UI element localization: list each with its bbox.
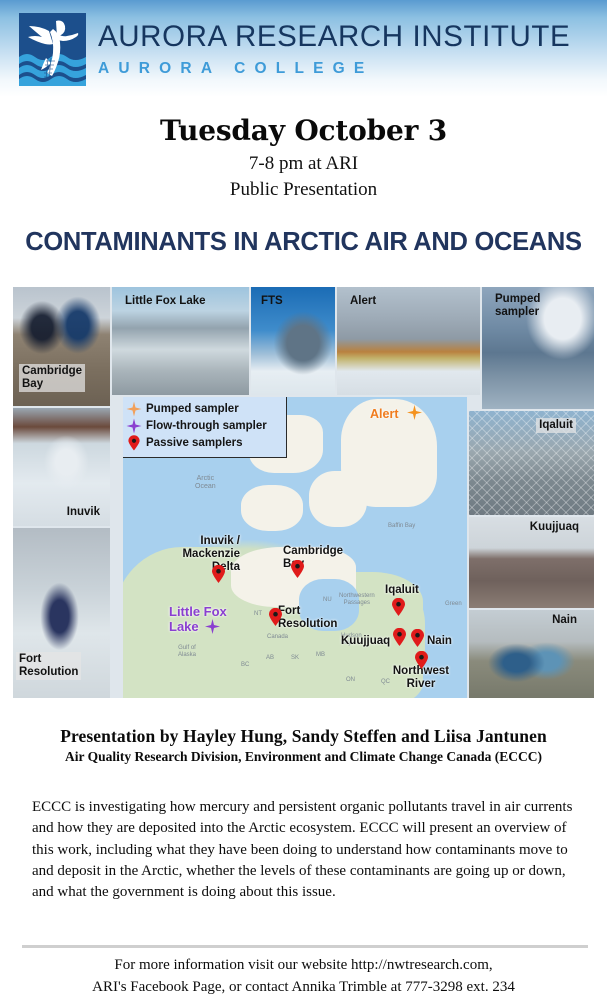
map-geo-label-northwestern-passages: Northwestern Passages	[339, 593, 375, 607]
map-site-label-alert: Alert	[370, 407, 398, 421]
poster-header: AURORA RESEARCH INSTITUTE AURORA COLLEGE	[0, 0, 607, 97]
photo-caption: Kuujjuaq	[527, 520, 582, 535]
presenter-names: Presentation by Hayley Hung, Sandy Steff…	[0, 726, 607, 747]
map-land-lower48	[123, 637, 333, 698]
presenter-affiliation: Air Quality Research Division, Environme…	[0, 749, 607, 765]
flow-through-sampler-cross-icon	[126, 418, 142, 434]
aurora-bird-waves-logo-icon	[19, 13, 86, 86]
photo-caption: Alert	[347, 294, 379, 309]
photo-caption: Inuvik	[64, 505, 103, 520]
legend-row-flow-through-sampler: Flow-through sampler	[126, 417, 280, 434]
map-geo-label-ab: AB	[266, 655, 274, 662]
body-paragraph: ECCC is investigating how mercury and pe…	[32, 797, 577, 903]
map-marker-inuvik-passive-pin-icon[interactable]	[212, 565, 225, 583]
map-geo-label-greenland-abbrev: Green	[445, 601, 462, 608]
photo-inuvik: Inuvik	[13, 408, 110, 526]
event-block: Tuesday October 3 7-8 pm at ARI Public P…	[0, 115, 607, 202]
map-geo-label-nt: NT	[254, 611, 262, 618]
map-marker-fort-resolution-passive-pin-icon[interactable]	[269, 608, 282, 626]
map-marker-cambridge-bay-passive-pin-icon[interactable]	[291, 560, 304, 578]
legend-row-passive-samplers: Passive samplers	[126, 434, 280, 451]
map-marker-alert-pumped-cross-icon[interactable]	[407, 405, 422, 420]
photo-pumped-sampler: Pumped sampler	[482, 287, 594, 409]
photo-cambridge-bay: Cambridge Bay	[13, 287, 110, 406]
footer-divider	[22, 945, 588, 948]
photo-caption: Nain	[549, 613, 580, 628]
org-name: AURORA RESEARCH INSTITUTE	[98, 22, 570, 52]
map-geo-label-mb: MB	[316, 652, 325, 659]
map-marker-kuujjuaq-passive-pin-icon[interactable]	[393, 628, 406, 646]
legend-label: Flow-through sampler	[146, 420, 267, 432]
photo-collage: Cambridge Bay Inuvik Fort Resolution Lit…	[13, 287, 594, 698]
map-geo-label-sk: SK	[291, 655, 299, 662]
legend-row-pumped-sampler: Pumped sampler	[126, 400, 280, 417]
event-kind: Public Presentation	[0, 177, 607, 203]
map-marker-nain-passive-pin-icon[interactable]	[411, 629, 424, 647]
photo-caption: Little Fox Lake	[122, 294, 209, 309]
map-site-label-inuvik-mackenzie-delta: Inuvik / Mackenzie Delta	[177, 535, 240, 574]
event-date: Tuesday October 3	[0, 115, 607, 147]
map-legend: Pumped sampler Flow-through sampler	[123, 397, 287, 458]
map-geo-label-arctic-ocean: Arctic Ocean	[195, 475, 216, 492]
footer-block: For more information visit our website h…	[0, 955, 607, 999]
photo-caption: Cambridge Bay	[19, 364, 85, 392]
map-site-label-iqaluit: Iqaluit	[385, 584, 419, 597]
map-geo-label-on: ON	[346, 677, 355, 684]
passive-sampler-pin-icon	[126, 435, 142, 451]
map-land-victoria-island	[241, 485, 303, 531]
photo-caption: FTS	[258, 294, 286, 309]
org-sub: AURORA COLLEGE	[98, 61, 570, 77]
photo-alert: Alert	[337, 287, 480, 395]
photo-fort-resolution: Fort Resolution	[13, 528, 110, 698]
photo-caption: Pumped sampler	[492, 292, 543, 320]
map-site-label-fort-resolution: Fort Resolution	[278, 605, 337, 631]
photo-nain: Nain	[469, 610, 594, 698]
photo-fts: FTS	[251, 287, 335, 395]
map-geo-label-bc: BC	[241, 662, 249, 669]
arctic-sampling-sites-map[interactable]: Arctic Ocean Baffin Bay Northwestern Pas…	[123, 397, 467, 698]
map-geo-label-nu: NU	[323, 597, 332, 604]
map-marker-little-fox-lake-flow-through-cross-icon[interactable]	[205, 619, 220, 634]
photo-caption: Fort Resolution	[16, 652, 81, 680]
pumped-sampler-cross-icon	[126, 401, 142, 417]
legend-label: Pumped sampler	[146, 403, 239, 415]
map-geo-label-canada: Canada	[267, 634, 288, 641]
photo-little-fox-lake: Little Fox Lake	[112, 287, 249, 395]
map-marker-northwest-river-passive-pin-icon[interactable]	[415, 651, 428, 669]
footer-line-website: For more information visit our website h…	[0, 955, 607, 977]
page-title: CONTAMINANTS IN ARCTIC AIR AND OCEANS	[0, 228, 607, 257]
presenter-block: Presentation by Hayley Hung, Sandy Steff…	[0, 726, 607, 765]
map-site-label-kuujjuaq: Kuujjuaq	[341, 635, 390, 648]
legend-label: Passive samplers	[146, 437, 243, 449]
photo-kuujjuaq: Kuujjuaq	[469, 517, 594, 608]
map-geo-label-baffin-bay: Baffin Bay	[388, 523, 415, 530]
event-time: 7-8 pm at ARI	[0, 151, 607, 177]
map-geo-label-gulf-of-alaska: Gulf of Alaska	[178, 645, 196, 659]
map-site-label-nain: Nain	[427, 635, 452, 648]
poster-root: AURORA RESEARCH INSTITUTE AURORA COLLEGE…	[0, 0, 607, 1000]
brand-wordmark: AURORA RESEARCH INSTITUTE AURORA COLLEGE	[98, 22, 570, 76]
footer-line-contact: ARI's Facebook Page, or contact Annika T…	[0, 977, 607, 999]
photo-iqaluit: Iqaluit	[469, 411, 594, 515]
map-marker-iqaluit-passive-pin-icon[interactable]	[392, 598, 405, 616]
photo-caption: Iqaluit	[536, 418, 576, 433]
